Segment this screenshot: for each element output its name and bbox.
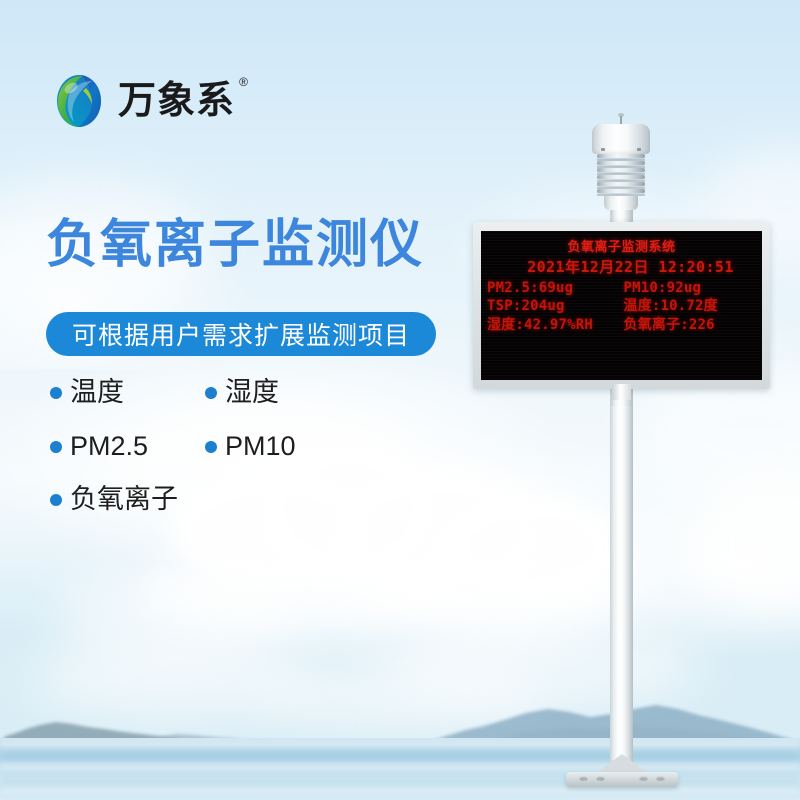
reading-pm25: PM2.5:69ug (487, 279, 624, 297)
brand-name-text: 万象系 (118, 80, 235, 122)
led-screen: 负氧离子监测系统 2021年12月22日 12:20:51 PM2.5:69ug… (481, 231, 762, 380)
feature-list: 温度 湿度 PM2.5 PM10 负氧离子 (50, 378, 380, 539)
bullet-dot-icon (50, 494, 62, 506)
list-item: PM10 (205, 432, 296, 462)
feature-label: PM2.5 (70, 432, 148, 462)
list-item: 湿度 (205, 378, 279, 408)
display-title: 负氧离子监测系统 (481, 236, 762, 255)
reading-humidity: 湿度:42.97%RH (487, 316, 624, 334)
feature-label: PM10 (225, 432, 296, 462)
brand-name: 万象系 ® (118, 82, 235, 120)
sea-background (0, 738, 800, 800)
bullet-dot-icon (50, 441, 62, 453)
list-item: 负氧离子 (50, 485, 205, 515)
page-title: 负氧离子监测仪 (46, 218, 424, 273)
feature-row: 温度 湿度 (50, 378, 380, 408)
led-display-panel[interactable]: 负氧离子监测系统 2021年12月22日 12:20:51 PM2.5:69ug… (473, 222, 770, 389)
flange-base-plate-icon (566, 754, 678, 784)
reading-pm10: PM10:92ug (624, 279, 761, 297)
bullet-dot-icon (205, 441, 217, 453)
display-datetime: 2021年12月22日 12:20:51 (481, 256, 762, 277)
feature-row: 负氧离子 (50, 485, 380, 515)
reading-tsp: TSP:204ug (487, 297, 624, 315)
display-mount-bracket (612, 384, 631, 400)
reading-temperature: 温度:10.72度 (624, 297, 761, 315)
feature-label: 温度 (70, 378, 124, 408)
cloud-puff (440, 492, 620, 602)
bullet-dot-icon (50, 387, 62, 399)
list-item: 温度 (50, 378, 205, 408)
radiation-shield-sensor-icon (592, 124, 650, 204)
registered-trademark-icon: ® (239, 76, 249, 88)
feature-label: 负氧离子 (70, 485, 178, 515)
feature-row: PM2.5 PM10 (50, 432, 380, 462)
feature-label: 湿度 (225, 378, 279, 408)
reading-grid: PM2.5:69ug PM10:92ug TSP:204ug 温度:10.72度… (481, 279, 762, 334)
list-item: PM2.5 (50, 432, 205, 462)
product-banner: 万象系 ® 负氧离子监测仪 可根据用户需求扩展监测项目 温度 湿度 PM2.5 (0, 0, 800, 800)
bullet-dot-icon (205, 387, 217, 399)
reading-negative-oxygen-ion: 负氧离子:226 (624, 316, 761, 334)
brand-logo[interactable]: 万象系 ® (52, 72, 235, 130)
subtitle-badge: 可根据用户需求扩展监测项目 (46, 312, 436, 356)
globe-swirl-logo-icon (52, 72, 108, 130)
